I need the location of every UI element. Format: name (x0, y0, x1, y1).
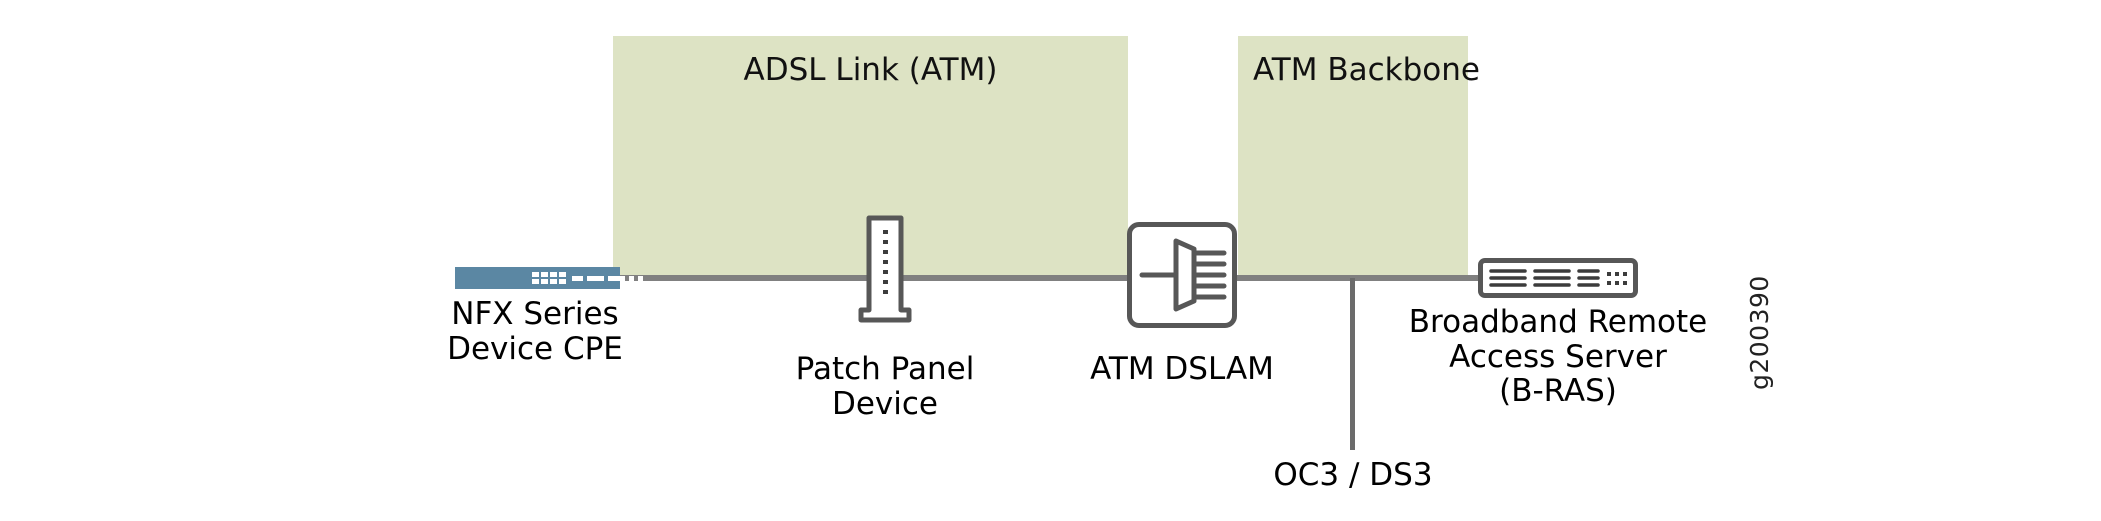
node-caption-dslam: ATM DSLAM (1052, 352, 1312, 387)
patch-panel-icon (855, 212, 915, 324)
port-grid-icon (532, 272, 566, 284)
network-diagram: ADSL Link (ATM) ATM Backbone OC3 / DS3 N… (0, 0, 2101, 521)
multiplexer-icon (1127, 222, 1237, 328)
zone-label-adsl: ADSL Link (ATM) (613, 55, 1128, 86)
port-indicator-row-icon (572, 276, 643, 281)
node-caption-bras: Broadband Remote Access Server (B-RAS) (1388, 305, 1728, 409)
node-caption-patch-panel: Patch Panel Device (755, 352, 1015, 421)
oc3-ds3-label: OC3 / DS3 (1228, 460, 1478, 491)
figure-id-watermark: g200390 (1745, 275, 1774, 390)
zone-label-atm-backbone: ATM Backbone (1253, 55, 1480, 86)
server-rack-icon (1478, 258, 1638, 298)
oc3-ds3-drop-line (1350, 278, 1355, 450)
node-caption-nfx: NFX Series Device CPE (400, 297, 670, 366)
trunk-link-line (618, 275, 1494, 281)
router-appliance-icon (455, 267, 620, 289)
